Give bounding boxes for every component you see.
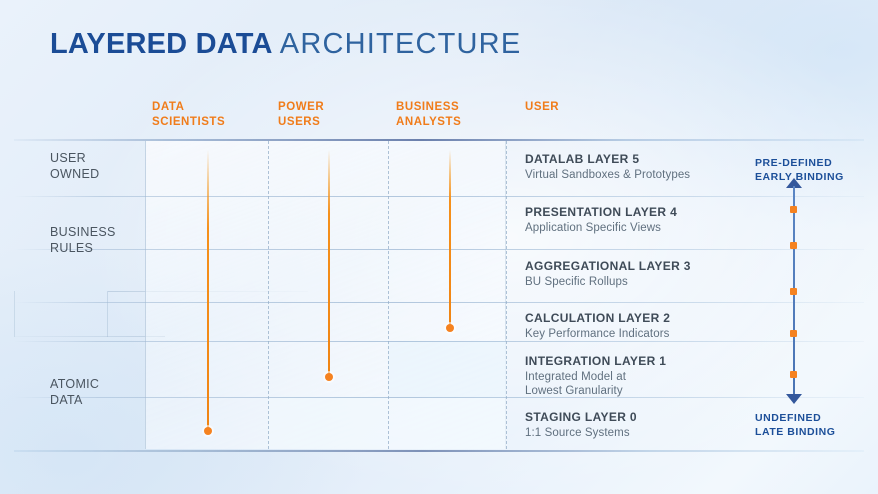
matrix-panel-notch-upper (388, 341, 506, 397)
grid-row-separator (14, 397, 864, 398)
persona-line1: USER (525, 100, 559, 115)
layer-integration-layer-1: INTEGRATION LAYER 1Integrated Model atLo… (525, 354, 666, 399)
persona-line1: POWER (278, 100, 324, 115)
layer-presentation-layer-4: PRESENTATION LAYER 4Application Specific… (525, 205, 677, 235)
layer-subtitle: Key Performance Indicators (525, 327, 670, 341)
decorative-step-divider (107, 291, 108, 337)
layer-calculation-layer-2: CALCULATION LAYER 2Key Performance Indic… (525, 311, 670, 341)
layer-title: AGGREGATIONAL LAYER 3 (525, 259, 691, 273)
band-line2: OWNED (50, 166, 99, 182)
binding-axis-bottom-label: UNDEFINED LATE BINDING (755, 411, 835, 439)
arrow-down-icon (786, 394, 802, 404)
persona-line1: BUSINESS (396, 100, 461, 115)
layer-staging-layer-0: STAGING LAYER 01:1 Source Systems (525, 410, 637, 440)
layer-subtitle: Virtual Sandboxes & Prototypes (525, 168, 690, 182)
grid-column-separator (388, 141, 389, 449)
layer-title: PRESENTATION LAYER 4 (525, 205, 677, 219)
layer-subtitle: BU Specific Rollups (525, 275, 691, 289)
matrix-panel-notch-lower (268, 397, 506, 449)
layer-title: CALCULATION LAYER 2 (525, 311, 670, 325)
binding-axis-dot (790, 242, 797, 249)
power-users-line (328, 150, 330, 377)
reach-line-endpoint-dot (204, 427, 212, 435)
reach-line-stem (207, 150, 209, 431)
layer-subtitle: Integrated Model at (525, 370, 666, 384)
binding-axis-dot (790, 330, 797, 337)
grid-row-separator (14, 196, 864, 197)
data-scientists-line (207, 150, 209, 431)
persona-header-power-users: POWERUSERS (278, 100, 324, 129)
band-line2: RULES (50, 240, 116, 256)
binding-axis-dot (790, 206, 797, 213)
layer-title: STAGING LAYER 0 (525, 410, 637, 424)
grid-column-separator (268, 141, 269, 449)
page-title-light: ARCHITECTURE (280, 28, 522, 60)
persona-header-data-scientists: DATASCIENTISTS (152, 100, 225, 129)
band-label-business-rules: BUSINESSRULES (50, 224, 116, 257)
grid-bottom-border (14, 450, 864, 452)
binding-axis-dot (790, 371, 797, 378)
band-label-user-owned: USEROWNED (50, 150, 99, 183)
layer-subtitle: 1:1 Source Systems (525, 426, 637, 440)
band-line1: USER (50, 150, 99, 166)
band-line1: ATOMIC (50, 376, 99, 392)
persona-line1: DATA (152, 100, 225, 115)
band-line2: DATA (50, 392, 99, 408)
grid-row-separator (14, 302, 864, 303)
persona-header-user: USER (525, 100, 559, 115)
reach-line-endpoint-dot (325, 373, 333, 381)
reach-line-stem (449, 150, 451, 328)
layer-title: INTEGRATION LAYER 1 (525, 354, 666, 368)
binding-axis-top-line1: PRE-DEFINED (755, 156, 844, 170)
band-line1: BUSINESS (50, 224, 116, 240)
page-title: LAYERED DATA ARCHITECTURE (50, 28, 521, 61)
decorative-step-outline (14, 291, 164, 337)
grid-row-separator (14, 341, 864, 342)
grid-row-separator (14, 249, 864, 250)
layer-aggregational-layer-3: AGGREGATIONAL LAYER 3BU Specific Rollups (525, 259, 691, 289)
binding-axis-bottom-line1: UNDEFINED (755, 411, 835, 425)
layer-title: DATALAB LAYER 5 (525, 152, 690, 166)
binding-axis-dot (790, 288, 797, 295)
reach-line-stem (328, 150, 330, 377)
layer-subtitle-2: Lowest Granularity (525, 384, 666, 398)
grid-column-separator (506, 141, 507, 449)
persona-line2: USERS (278, 115, 324, 130)
persona-header-business-analysts: BUSINESSANALYSTS (396, 100, 461, 129)
page-title-bold: LAYERED DATA (50, 28, 272, 60)
layer-subtitle: Application Specific Views (525, 221, 677, 235)
reach-line-endpoint-dot (446, 324, 454, 332)
layer-datalab-layer-5: DATALAB LAYER 5Virtual Sandboxes & Proto… (525, 152, 690, 182)
band-label-atomic-data: ATOMICDATA (50, 376, 99, 409)
business-analysts-line (449, 150, 451, 328)
binding-axis-bottom-line2: LATE BINDING (755, 425, 835, 439)
persona-line2: SCIENTISTS (152, 115, 225, 130)
persona-line2: ANALYSTS (396, 115, 461, 130)
